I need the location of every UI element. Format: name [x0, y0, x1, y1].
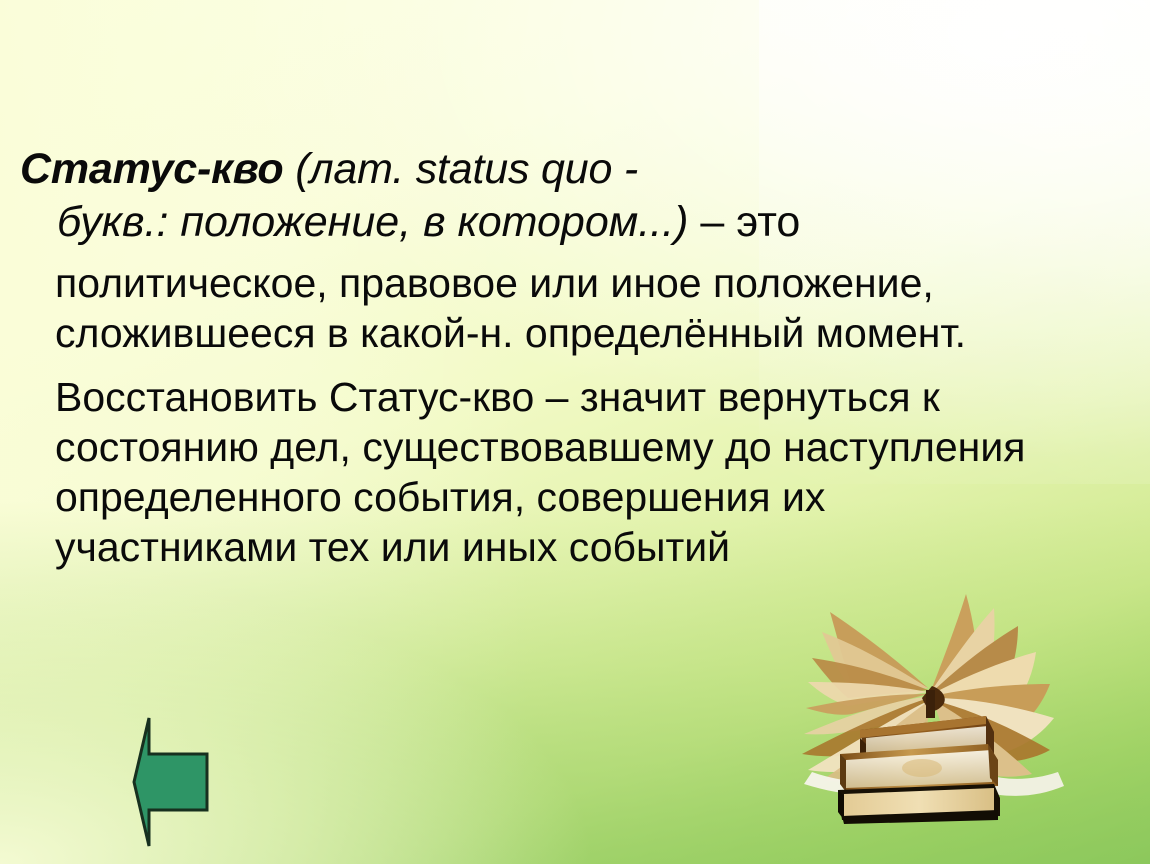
paragraph-2-line-1: Восстановить Статус-кво – значит вернуть…	[18, 358, 1103, 422]
definition-heading-line2: букв.: положение, в котором...) – это	[18, 201, 1103, 258]
term-bold: Статус-кво	[20, 145, 283, 193]
stack-of-books-illustration	[782, 548, 1122, 848]
paragraph-1-line-2: сложившееся в какой-н. определённый моме…	[18, 308, 1103, 358]
definition-heading: Статус-кво (лат. status quo -	[18, 148, 1103, 201]
slide-canvas: Статус-кво (лат. status quo - букв.: пол…	[0, 0, 1150, 864]
term-latin-part: (лат. status quo -	[283, 145, 638, 193]
closed-book-bottom	[838, 784, 1000, 824]
paragraph-2-line-3: определенного события, совершения их	[18, 472, 1103, 522]
paragraph-1-line-1: политическое, правовое или иное положени…	[18, 258, 1103, 308]
slide-text-block: Статус-кво (лат. status quo - букв.: пол…	[18, 148, 1103, 572]
paragraph-2-line-2: состоянию дел, существовавшему до наступ…	[18, 422, 1103, 472]
left-arrow-shape	[134, 718, 207, 846]
term-literal-gloss: букв.: положение, в котором...)	[57, 198, 688, 246]
term-connector: – это	[688, 198, 800, 246]
left-arrow-icon[interactable]	[118, 714, 210, 850]
